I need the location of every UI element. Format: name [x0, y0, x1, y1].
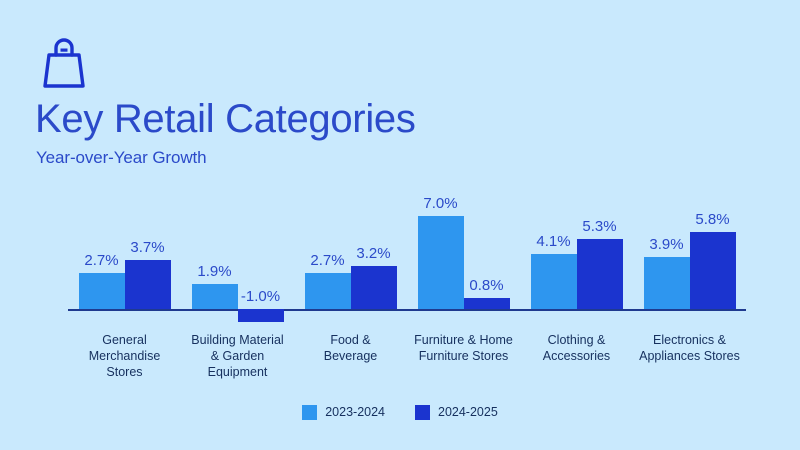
bar-value-label: -1.0% — [226, 288, 296, 306]
chart-baseline-axis — [68, 309, 746, 311]
category-label: Electronics &Appliances Stores — [627, 332, 752, 364]
bar-2023-2024[interactable] — [79, 273, 125, 309]
bar-value-label: 5.3% — [565, 218, 635, 236]
category-label: Building Material& GardenEquipment — [175, 332, 300, 380]
bar-value-label: 3.7% — [113, 239, 183, 257]
category-label-line: Electronics & — [627, 332, 752, 348]
bar-value-label: 5.8% — [678, 211, 748, 229]
legend-swatch — [302, 405, 317, 420]
category-label-line: Appliances Stores — [627, 348, 752, 364]
category-label-line: Furniture Stores — [401, 348, 526, 364]
category-label-line: Furniture & Home — [401, 332, 526, 348]
legend-item[interactable]: 2024-2025 — [415, 405, 498, 420]
bar-2024-2025[interactable] — [577, 239, 623, 309]
slide-canvas: Key Retail Categories Year-over-Year Gro… — [0, 0, 800, 450]
bar-2024-2025[interactable] — [690, 232, 736, 309]
bar-2023-2024[interactable] — [644, 257, 690, 309]
category-label-line: General — [62, 332, 187, 348]
category-label-line: Beverage — [288, 348, 413, 364]
legend-item[interactable]: 2023-2024 — [302, 405, 385, 420]
category-label: Clothing &Accessories — [514, 332, 639, 364]
bar-2024-2025[interactable] — [238, 309, 284, 322]
bar-2023-2024[interactable] — [305, 273, 351, 309]
category-label-line: Equipment — [175, 364, 300, 380]
bar-2023-2024[interactable] — [531, 254, 577, 309]
category-label-line: & Garden — [175, 348, 300, 364]
category-label-line: Food & — [288, 332, 413, 348]
legend-label: 2024-2025 — [438, 405, 498, 420]
category-label-line: Accessories — [514, 348, 639, 364]
bar-value-label: 1.9% — [180, 263, 250, 281]
bar-2024-2025[interactable] — [351, 266, 397, 309]
bar-2024-2025[interactable] — [464, 298, 510, 309]
category-label-line: Merchandise — [62, 348, 187, 364]
category-label: GeneralMerchandiseStores — [62, 332, 187, 380]
bar-chart: 2.7%3.7%1.9%-1.0%2.7%3.2%7.0%0.8%4.1%5.3… — [0, 0, 800, 450]
bar-value-label: 0.8% — [452, 277, 522, 295]
legend-swatch — [415, 405, 430, 420]
bar-2024-2025[interactable] — [125, 260, 171, 309]
legend-label: 2023-2024 — [325, 405, 385, 420]
category-label-line: Building Material — [175, 332, 300, 348]
category-label: Food &Beverage — [288, 332, 413, 364]
chart-legend: 2023-20242024-2025 — [0, 405, 800, 420]
bar-value-label: 3.2% — [339, 245, 409, 263]
bar-value-label: 7.0% — [406, 195, 476, 213]
category-label-line: Clothing & — [514, 332, 639, 348]
category-label: Furniture & HomeFurniture Stores — [401, 332, 526, 364]
category-label-line: Stores — [62, 364, 187, 380]
